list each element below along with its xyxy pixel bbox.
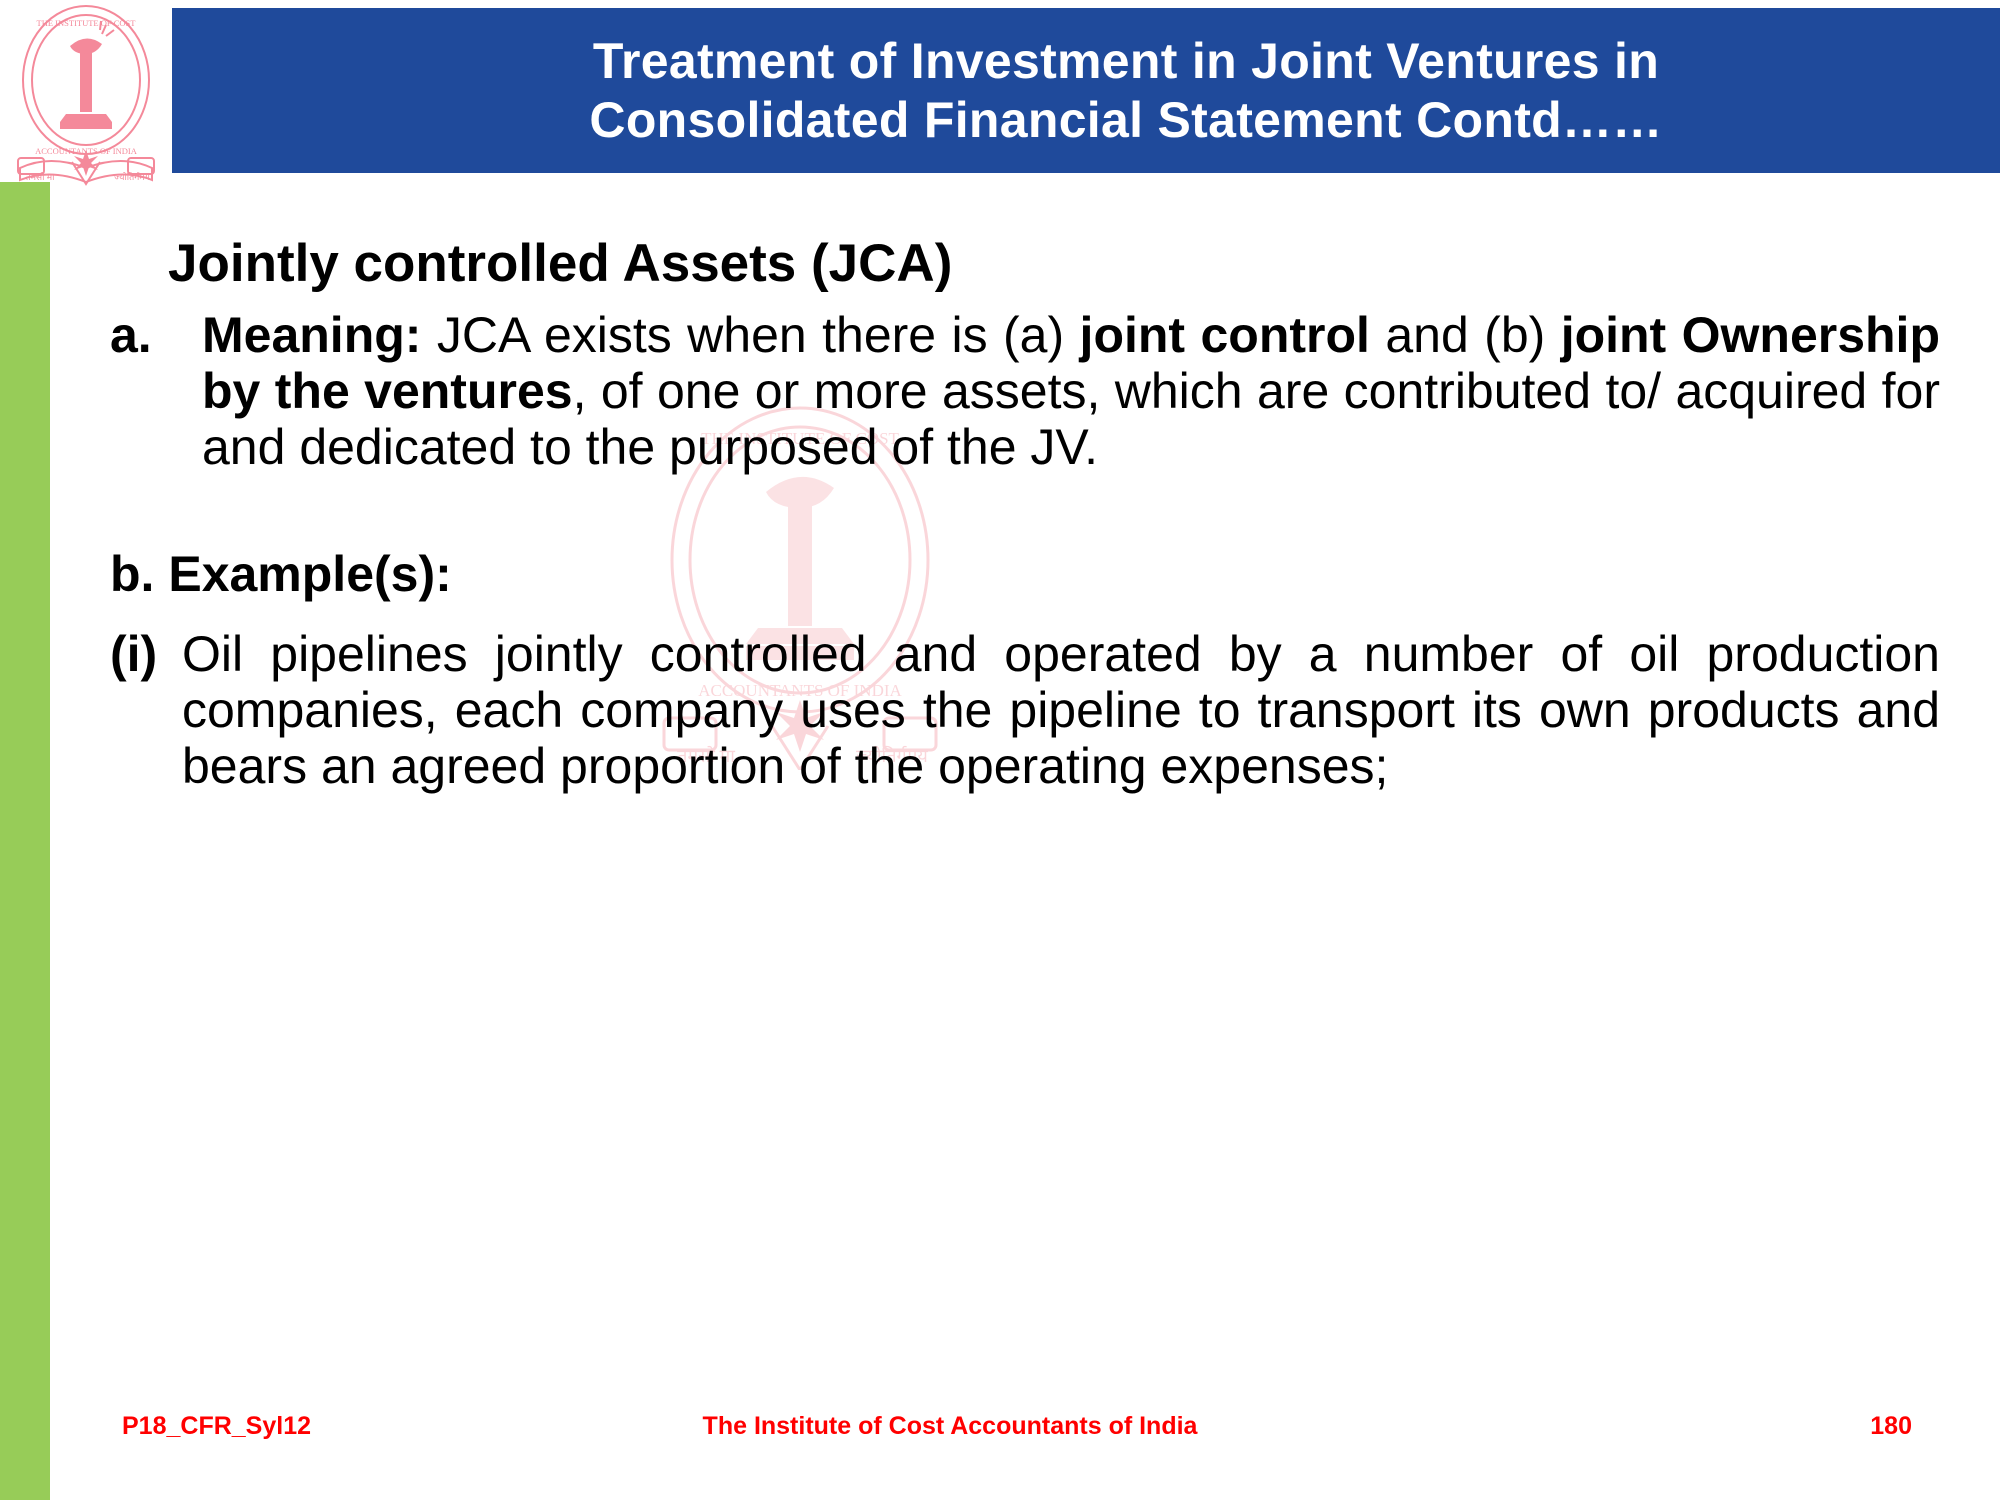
institute-logo: THE INSTITUTE OF COST ACCOUNTANTS OF IND… xyxy=(6,2,166,187)
section-heading-jca: Jointly controlled Assets (JCA) xyxy=(168,235,1940,293)
list-item-meaning: a. Meaning: JCA exists when there is (a)… xyxy=(110,307,1940,475)
svg-text:THE INSTITUTE OF COST: THE INSTITUTE OF COST xyxy=(37,18,137,28)
left-green-accent-stripe xyxy=(0,182,50,1500)
svg-text:तमसो मा: तमसो मा xyxy=(26,171,56,182)
svg-text:ज्योतिर्गमय: ज्योतिर्गमय xyxy=(114,171,151,182)
meaning-label: Meaning: xyxy=(202,307,421,363)
footer-institute-name: The Institute of Cost Accountants of Ind… xyxy=(0,1412,1900,1441)
examples-label: Example(s): xyxy=(168,546,451,602)
meaning-bold-joint-control: joint control xyxy=(1080,307,1370,363)
list-marker-b: b. xyxy=(110,546,154,602)
svg-text:ACCOUNTANTS OF INDIA: ACCOUNTANTS OF INDIA xyxy=(35,146,138,156)
slide-body: Jointly controlled Assets (JCA) a. Meani… xyxy=(110,235,1940,794)
slide-footer: P18_CFR_Syl12 The Institute of Cost Acco… xyxy=(0,1412,2000,1462)
example-item-i: (i) Oil pipelines jointly controlled and… xyxy=(110,626,1940,794)
list-marker-i: (i) xyxy=(110,626,182,794)
meaning-text-1: JCA exists when there is (a) xyxy=(421,307,1079,363)
slide-header-bar: Treatment of Investment in Joint Venture… xyxy=(172,8,2000,173)
example-i-text: Oil pipelines jointly controlled and ope… xyxy=(182,626,1940,794)
list-marker-a: a. xyxy=(110,307,202,475)
page-title: Treatment of Investment in Joint Venture… xyxy=(589,32,1662,150)
list-item-examples: b. Example(s): xyxy=(110,547,1940,602)
footer-page-number: 180 xyxy=(1870,1412,1912,1441)
meaning-paragraph: Meaning: JCA exists when there is (a) jo… xyxy=(202,307,1940,475)
meaning-text-2: and (b) xyxy=(1370,307,1561,363)
